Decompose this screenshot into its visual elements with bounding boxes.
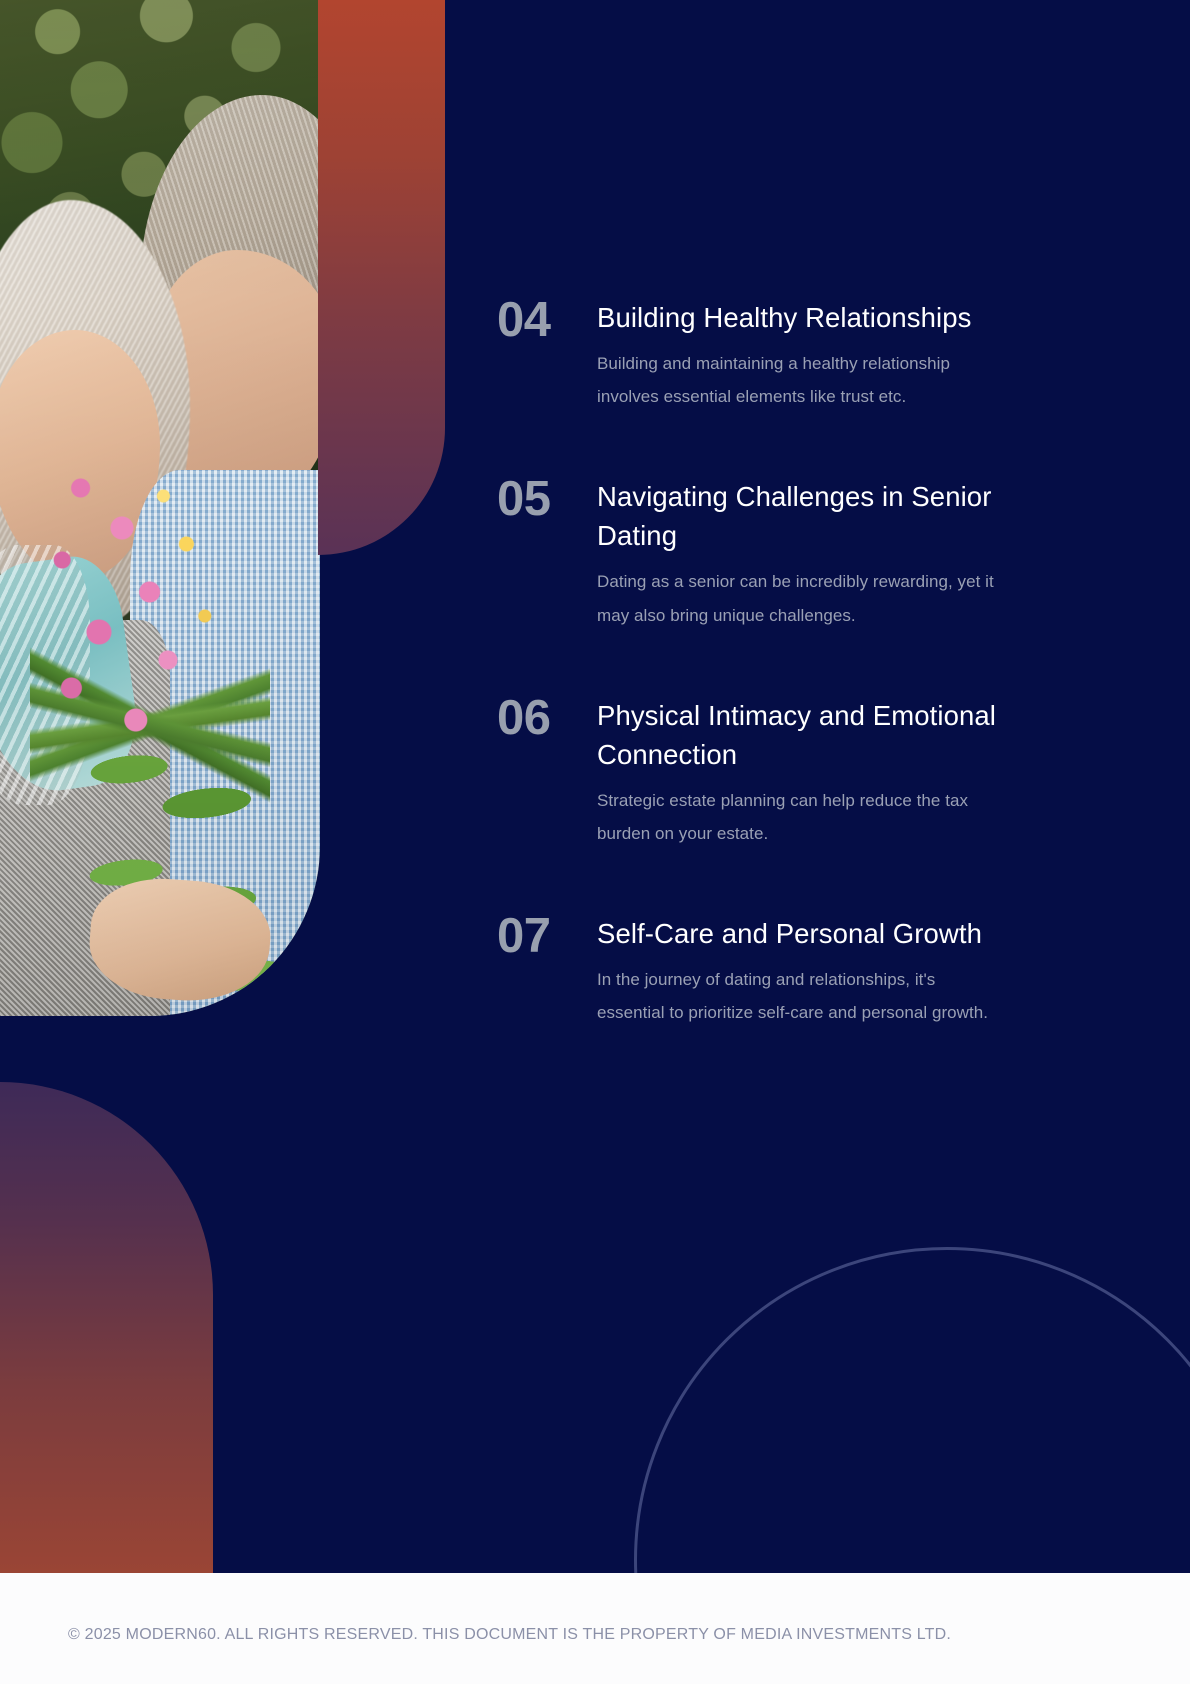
item-title: Physical Intimacy and Emotional Connecti… xyxy=(597,696,1027,774)
accent-arch-shape xyxy=(0,1082,213,1573)
item-body: Building Healthy Relationships Building … xyxy=(597,296,1027,413)
item-title: Navigating Challenges in Senior Dating xyxy=(597,477,1027,555)
section-list: 04 Building Healthy Relationships Buildi… xyxy=(497,296,1027,1029)
item-description: Dating as a senior can be incredibly rew… xyxy=(597,565,1007,631)
item-body: Physical Intimacy and Emotional Connecti… xyxy=(597,694,1027,850)
senior-couple-photo xyxy=(0,0,320,1016)
page-footer: © 2025 MODERN60. ALL RIGHTS RESERVED. TH… xyxy=(0,1573,1190,1684)
list-item: 07 Self-Care and Personal Growth In the … xyxy=(497,912,1027,1029)
item-description: Strategic estate planning can help reduc… xyxy=(597,784,1007,850)
copyright-text: © 2025 MODERN60. ALL RIGHTS RESERVED. TH… xyxy=(68,1626,951,1644)
document-page: 04 Building Healthy Relationships Buildi… xyxy=(0,0,1190,1684)
main-panel: 04 Building Healthy Relationships Buildi… xyxy=(0,0,1190,1573)
item-description: Building and maintaining a healthy relat… xyxy=(597,347,1007,413)
item-number: 06 xyxy=(497,694,597,744)
item-number: 04 xyxy=(497,296,597,346)
item-body: Self-Care and Personal Growth In the jou… xyxy=(597,912,1027,1029)
accent-column-shape xyxy=(318,0,445,555)
list-item: 05 Navigating Challenges in Senior Datin… xyxy=(497,475,1027,631)
item-number: 05 xyxy=(497,475,597,525)
item-number: 07 xyxy=(497,912,597,962)
list-item: 06 Physical Intimacy and Emotional Conne… xyxy=(497,694,1027,850)
photo-shading xyxy=(0,0,320,1016)
item-title: Building Healthy Relationships xyxy=(597,298,1027,337)
item-body: Navigating Challenges in Senior Dating D… xyxy=(597,475,1027,631)
item-description: In the journey of dating and relationshi… xyxy=(597,963,1007,1029)
list-item: 04 Building Healthy Relationships Buildi… xyxy=(497,296,1027,413)
decorative-arc-line xyxy=(634,1247,1190,1573)
item-title: Self-Care and Personal Growth xyxy=(597,914,1027,953)
